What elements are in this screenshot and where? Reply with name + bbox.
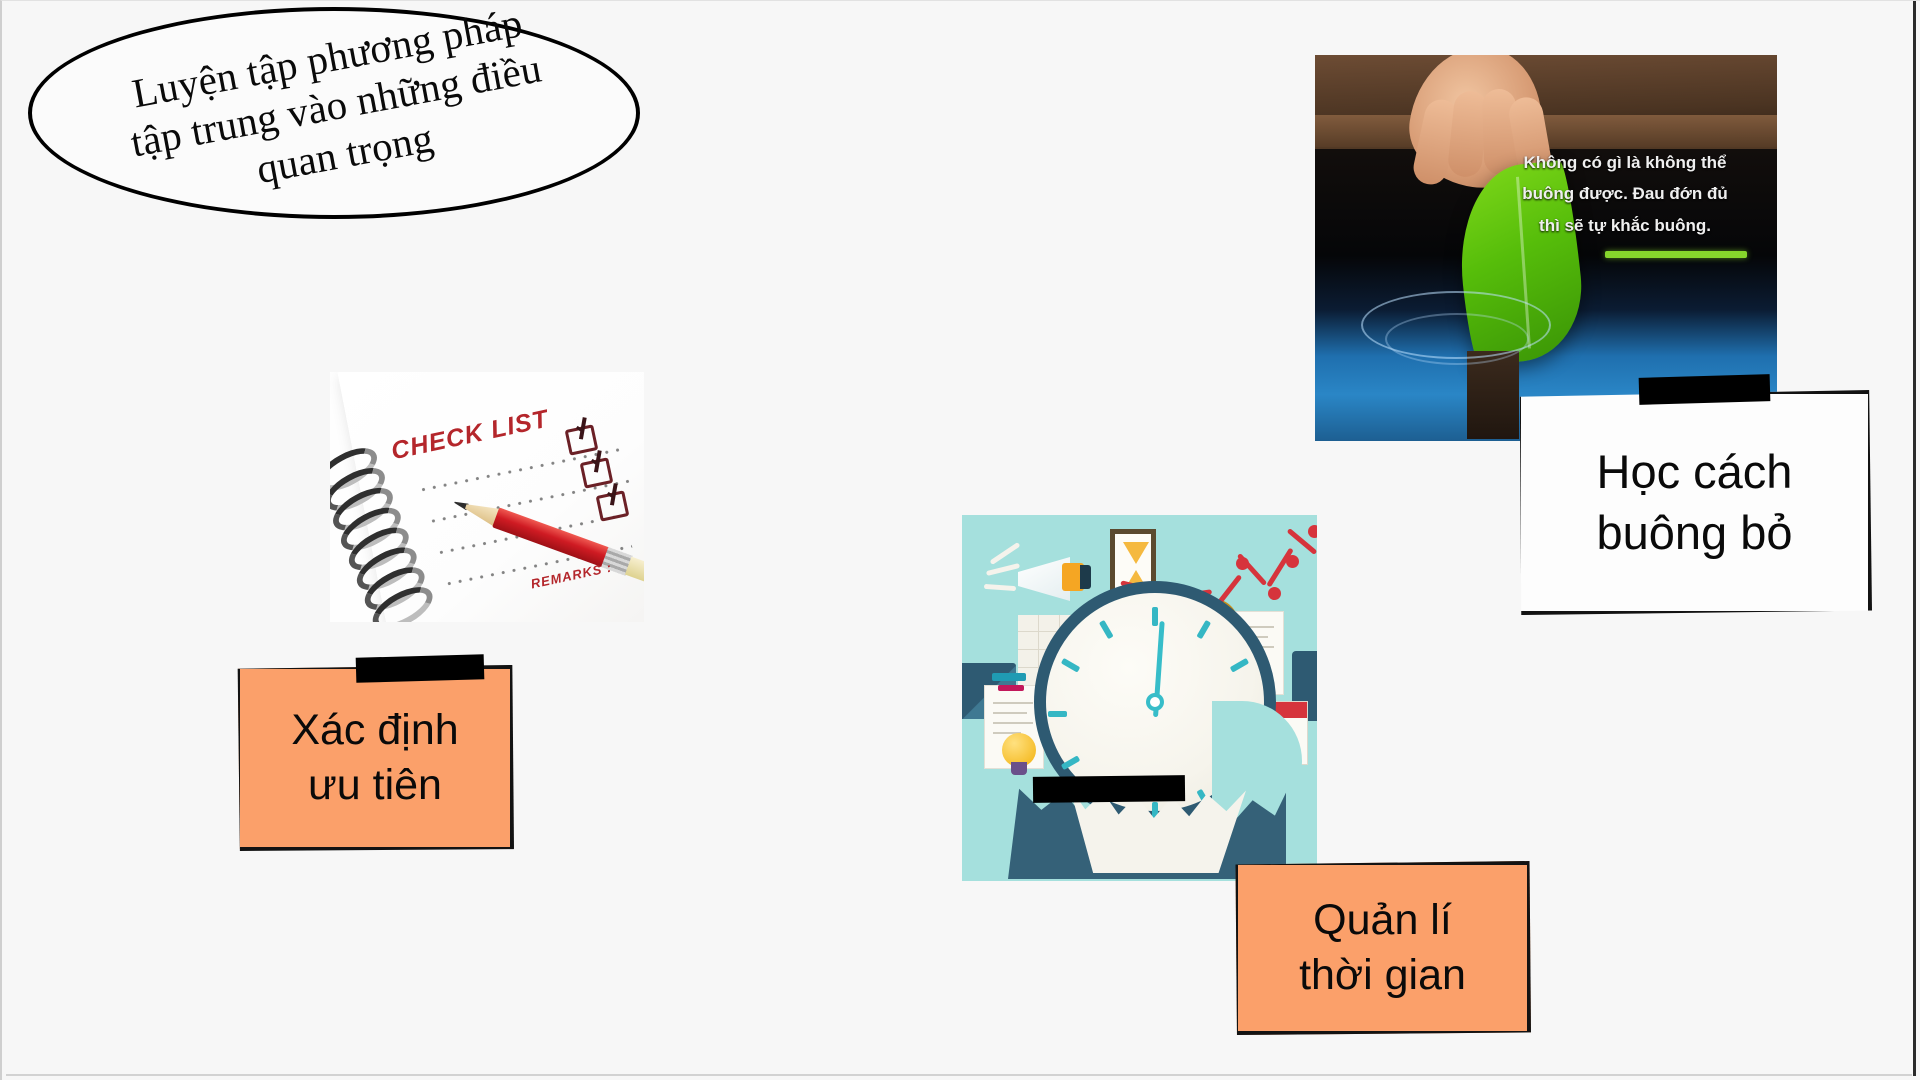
black-tape-let-go <box>1639 374 1771 405</box>
priority-line-1: Xác định <box>291 706 458 754</box>
title-oval-callout[interactable]: Luyện tập phương pháp tập trung vào nhữn… <box>28 7 640 219</box>
black-tape-clock <box>1033 775 1185 803</box>
slide-canvas: Luyện tập phương pháp tập trung vào nhữn… <box>0 0 1920 1080</box>
time-line-2: thời gian <box>1299 951 1466 999</box>
quote-line-3: thì sẽ tự khắc buông. <box>1491 210 1759 241</box>
letgo-line-1: Học cách <box>1597 445 1793 498</box>
sticky-note-let-go-text: Học cách buông bỏ <box>1596 442 1792 562</box>
leaf-quote-text: Không có gì là không thể buông được. Đau… <box>1491 147 1759 241</box>
sticky-note-priority[interactable]: Xác định ưu tiên <box>236 665 514 851</box>
quote-line-1: Không có gì là không thể <box>1491 147 1759 178</box>
sticky-note-time-text: Quản lí thời gian <box>1299 893 1466 1003</box>
sticky-note-let-go[interactable]: Học cách buông bỏ <box>1517 390 1872 615</box>
sticky-note-priority-text: Xác định ưu tiên <box>291 703 458 813</box>
sticky-note-time-management[interactable]: Quản lí thời gian <box>1234 861 1531 1035</box>
time-line-1: Quản lí <box>1313 896 1452 944</box>
green-accent-bar <box>1605 251 1747 258</box>
clock-center-pin <box>1146 693 1164 711</box>
lightbulb-icon <box>1002 733 1036 777</box>
quote-line-2: buông được. Đau đớn đủ <box>1491 178 1759 209</box>
priority-line-2: ưu tiên <box>308 761 442 809</box>
checklist-image[interactable]: CHECK LIST REMARKS : <box>330 372 644 622</box>
black-tape-priority <box>356 654 485 683</box>
letgo-line-2: buông bỏ <box>1596 506 1792 559</box>
megaphone-icon <box>988 549 1082 611</box>
time-management-image[interactable]: 7 $ <box>962 515 1317 881</box>
growth-chart-icon <box>1208 523 1316 613</box>
